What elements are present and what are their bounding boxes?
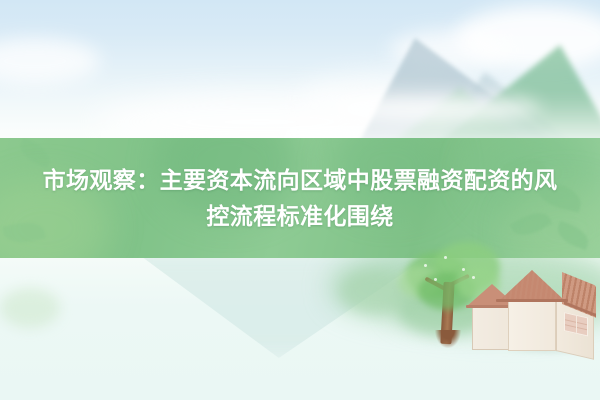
leaf-highlight <box>424 264 427 267</box>
window-mullion-vertical <box>576 316 577 333</box>
tree-root <box>435 330 461 348</box>
leaf-highlight <box>434 278 437 281</box>
leaf-highlight <box>462 268 465 271</box>
cloud-icon <box>0 38 100 84</box>
page-title: 市场观察：主要资本流向区域中股票融资配资的风 控流程标准化围绕 <box>0 138 600 258</box>
article-banner-image: 市场观察：主要资本流向区域中股票融资配资的风 控流程标准化围绕 <box>0 0 600 400</box>
house-small-gable-wall <box>472 307 512 350</box>
house-front-wall <box>508 301 556 351</box>
shrub-icon <box>0 288 60 328</box>
house-roof-eave <box>496 299 568 302</box>
sky-background <box>0 0 600 150</box>
house-icon <box>466 268 594 360</box>
title-band: 市场观察：主要资本流向区域中股票融资配资的风 控流程标准化围绕 <box>0 138 600 258</box>
title-line-2: 控流程标准化围绕 <box>206 200 393 232</box>
title-line-1: 市场观察：主要资本流向区域中股票融资配资的风 <box>43 164 558 196</box>
leaf-highlight <box>444 256 447 259</box>
